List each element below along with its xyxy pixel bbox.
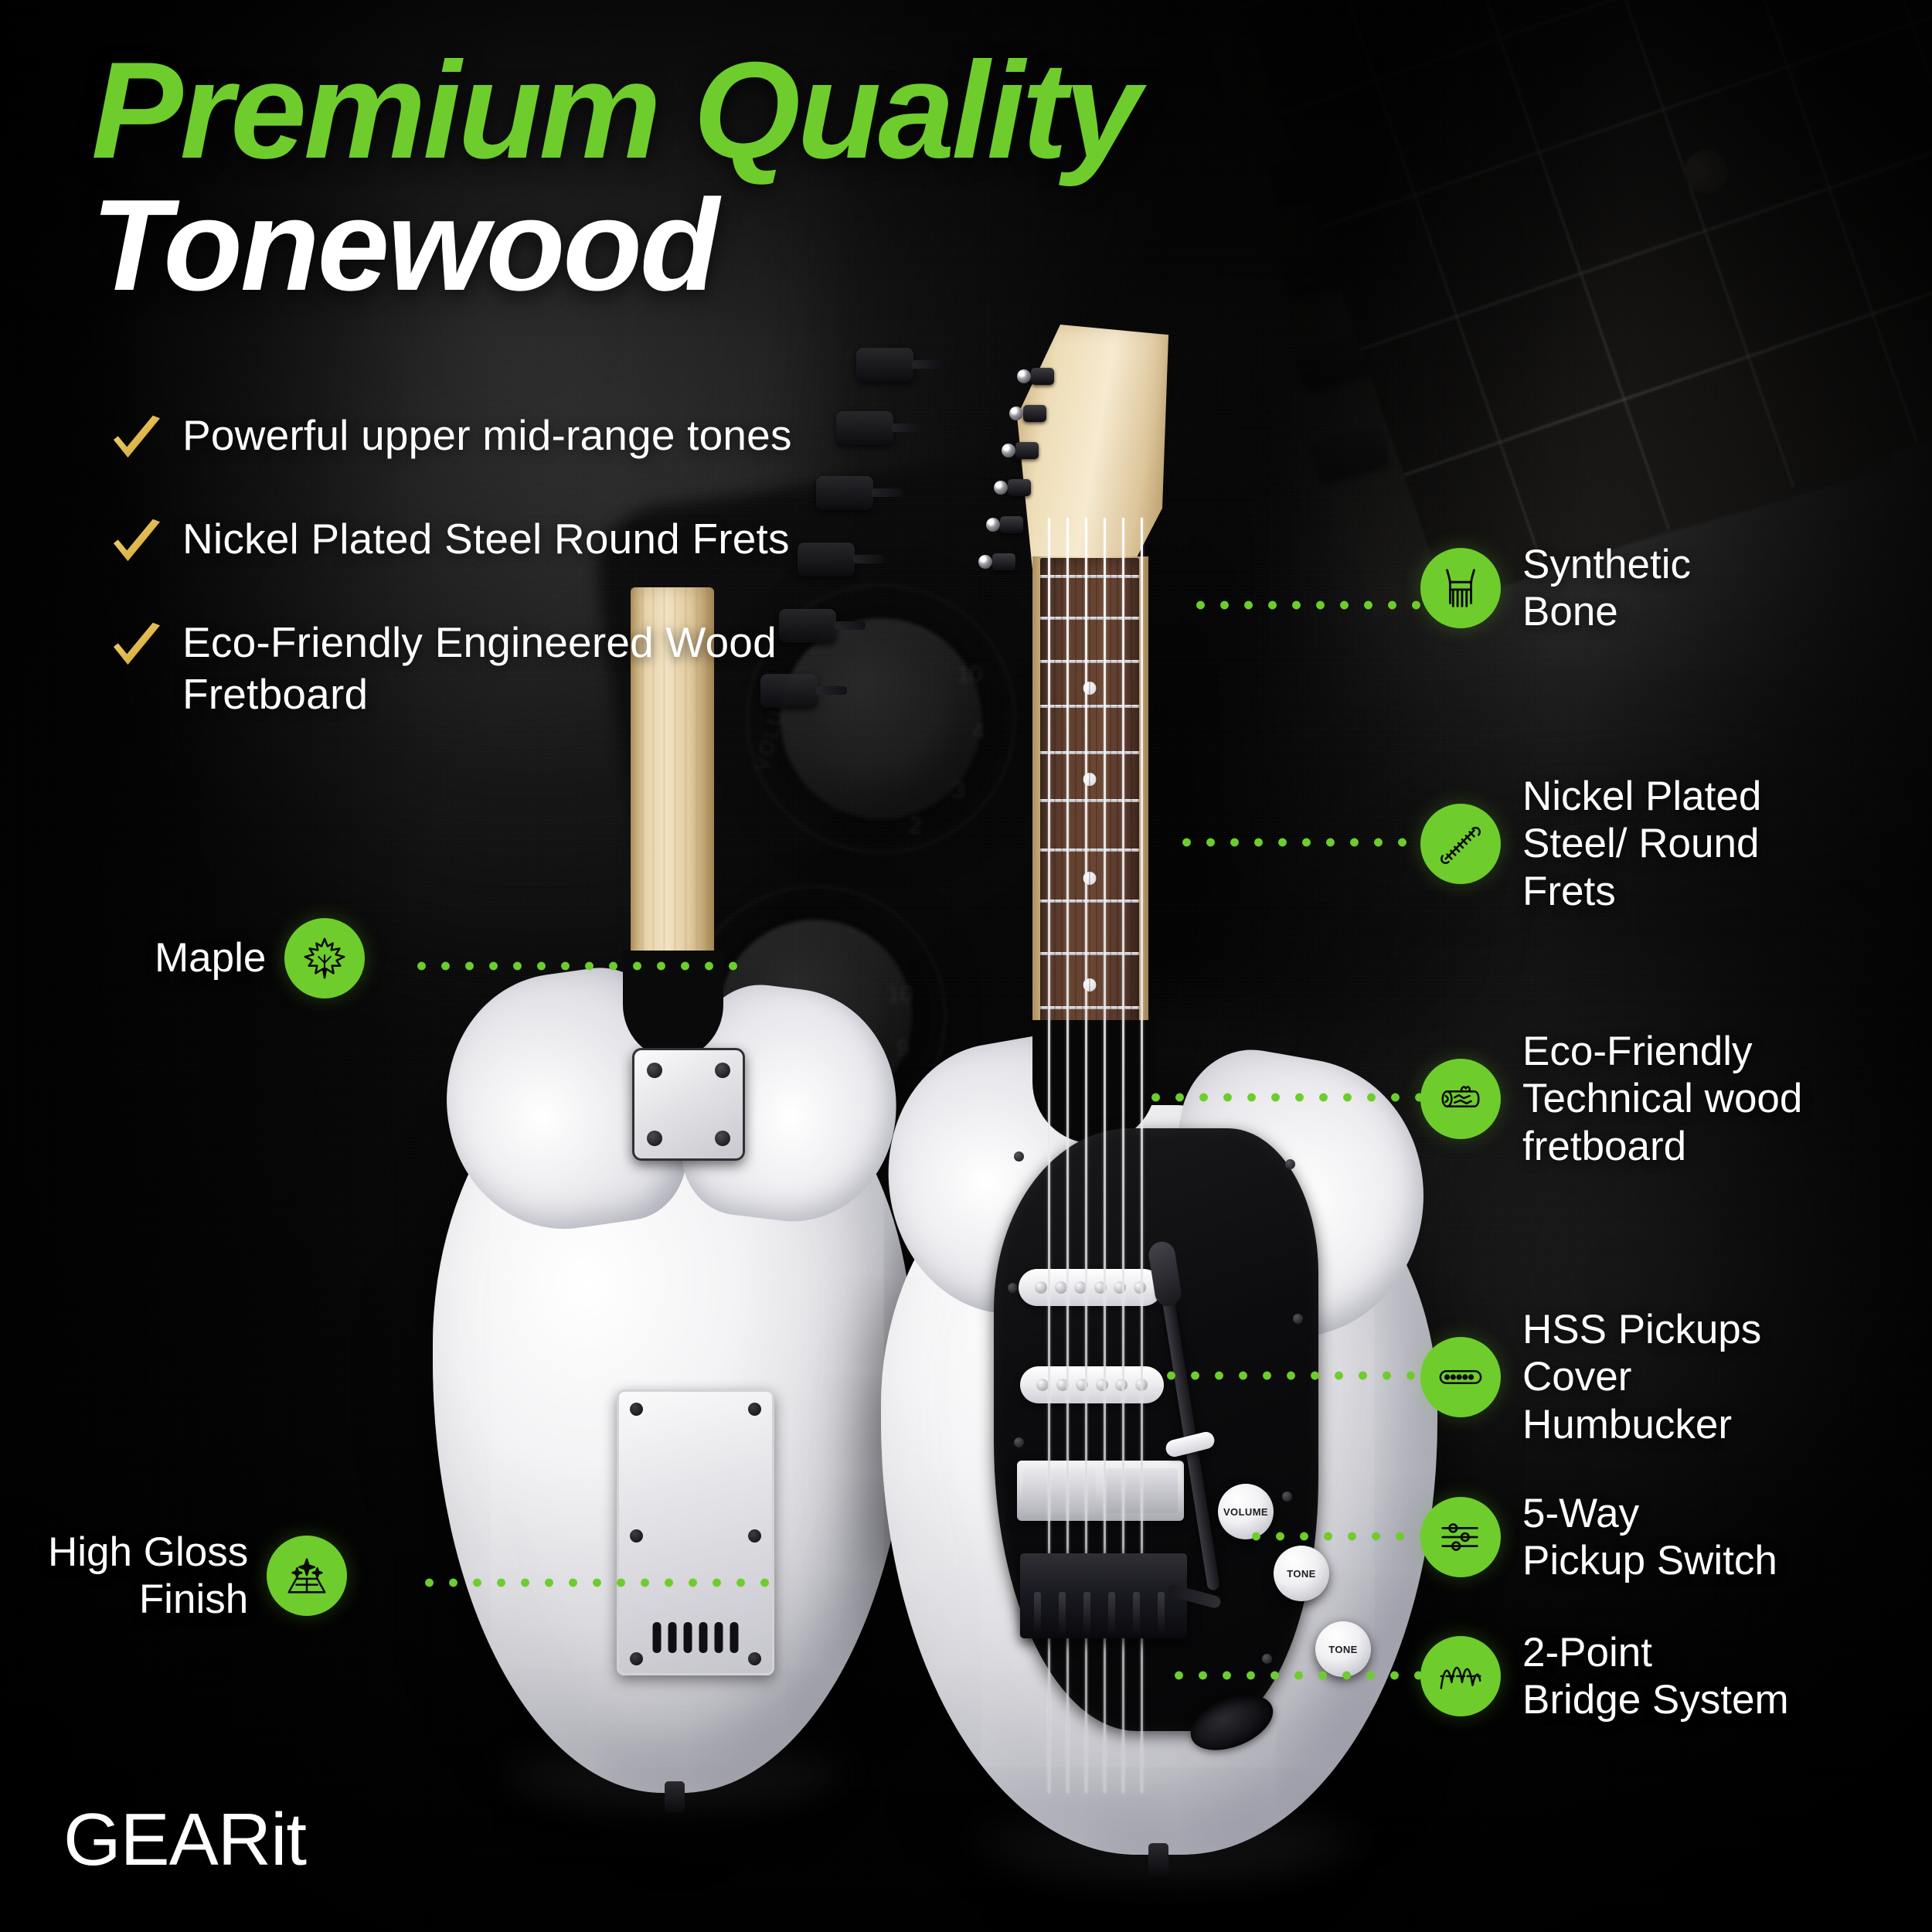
check-icon: [108, 515, 165, 572]
check-icon: [108, 618, 165, 675]
pickup-bar-icon: [1420, 1337, 1501, 1417]
maple-leaf-icon: [284, 918, 365, 998]
bullet-label: Powerful upper mid-range tones: [182, 410, 792, 461]
callout-high-gloss-finish: High Gloss Finish: [48, 1529, 347, 1624]
callout-2-point-bridge: 2-Point Bridge System: [1420, 1629, 1789, 1724]
bullet-label: Nickel Plated Steel Round Frets: [182, 513, 790, 565]
guitar-front-view: GEARIT: [881, 325, 1437, 1855]
tremolo-bridge: [1020, 1553, 1187, 1638]
callout-label: Synthetic Bone: [1522, 541, 1691, 636]
strap-button-front: [1148, 1843, 1168, 1876]
heading-block: Premium Quality Tonewood: [91, 45, 1138, 310]
infographic-canvas: VOLUME 10 4 3 2 TONE 10 9 7: [0, 0, 1932, 1932]
headstock-logo: GEARIT: [1220, 430, 1246, 521]
callout-label: Maple: [155, 934, 266, 981]
bullet-label: Eco-Friendly Engineered Wood Fretboard: [182, 617, 878, 720]
callout-label: 2-Point Bridge System: [1522, 1629, 1789, 1724]
slider-switch-icon: [1420, 1497, 1501, 1577]
gloss-shine-icon: [267, 1536, 347, 1616]
fret-wire-icon: [1420, 804, 1501, 884]
callout-label: Eco-Friendly Technical wood fretboard: [1522, 1028, 1802, 1170]
pickguard: [994, 1128, 1318, 1731]
leader-switch: [1244, 1530, 1422, 1543]
bullet-item: Powerful upper mid-range tones: [108, 410, 958, 468]
guitar-back-view: [433, 587, 912, 1793]
leader-fretboard: [1144, 1091, 1422, 1104]
tremolo-cavity-cover: [617, 1389, 774, 1675]
leader-maple: [410, 960, 742, 972]
callout-5-way-switch: 5-Way Pickup Switch: [1420, 1490, 1777, 1585]
callout-maple: Maple: [155, 918, 365, 998]
callout-eco-fretboard: Eco-Friendly Technical wood fretboard: [1420, 1028, 1802, 1170]
callout-nickel-plated-frets: Nickel Plated Steel/ Round Frets: [1420, 773, 1761, 915]
guitar-nut-icon: [1420, 548, 1501, 628]
brand-logo: GEARit: [63, 1798, 306, 1883]
leader-gloss: [417, 1577, 781, 1589]
callout-synthetic-bone: Synthetic Bone: [1420, 541, 1691, 636]
brand-logo-text: GEARit: [63, 1798, 306, 1883]
callout-hss-pickups: HSS Pickups Cover Humbucker: [1420, 1306, 1761, 1448]
callout-label: Nickel Plated Steel/ Round Frets: [1522, 773, 1761, 915]
tone-knob-1[interactable]: TONE: [1274, 1546, 1329, 1601]
strap-button-back: [665, 1781, 685, 1812]
leader-pickups: [1159, 1369, 1422, 1382]
guitar-neck-pocket: [1032, 1020, 1156, 1144]
heading-line-2: Tonewood: [91, 180, 1138, 310]
leader-bridge: [1167, 1669, 1422, 1682]
heading-line-1: Premium Quality: [91, 45, 1138, 177]
leader-frets: [1175, 836, 1422, 849]
check-icon: [108, 411, 165, 468]
bullet-item: Nickel Plated Steel Round Frets: [108, 513, 958, 572]
tuner-rear-1: [856, 348, 913, 382]
feature-bullet-list: Powerful upper mid-range tones Nickel Pl…: [108, 410, 958, 720]
callout-label: 5-Way Pickup Switch: [1522, 1490, 1777, 1585]
callout-label: HSS Pickups Cover Humbucker: [1522, 1306, 1761, 1448]
leader-synthetic-bone: [1189, 599, 1420, 611]
humbucker-pickup: [1017, 1461, 1184, 1521]
wood-log-icon: [1420, 1059, 1501, 1139]
waveform-icon: [1420, 1636, 1501, 1716]
neck-plate: [632, 1048, 745, 1161]
bullet-item: Eco-Friendly Engineered Wood Fretboard: [108, 617, 958, 720]
string-slots: [653, 1622, 739, 1653]
callout-label: High Gloss Finish: [48, 1529, 248, 1624]
